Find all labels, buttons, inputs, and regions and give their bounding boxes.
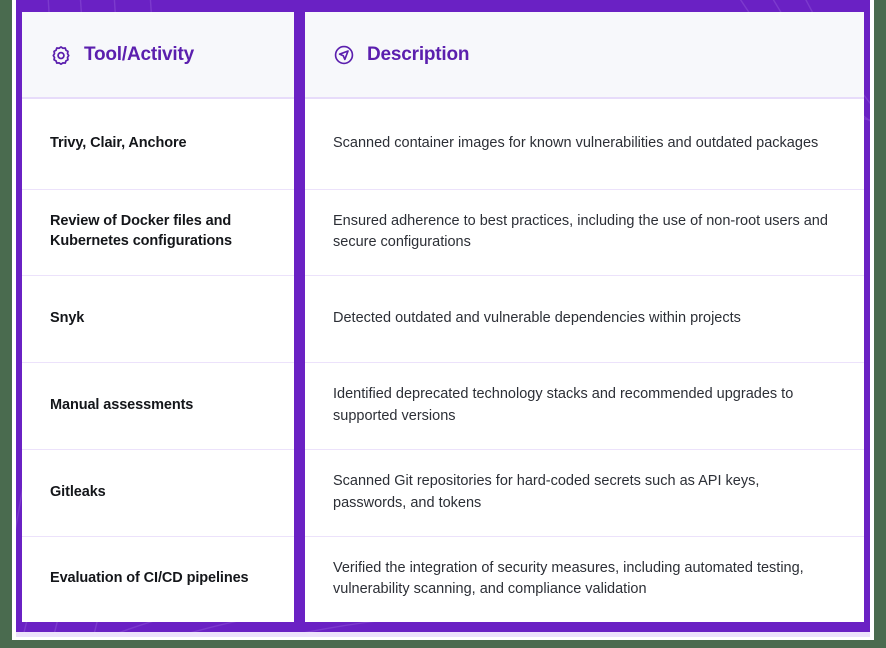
cell-description: Identified deprecated technology stacks … [305,362,864,449]
page-canvas: Tool/Activity Descripti [0,0,886,648]
tool-activity-table: Tool/Activity Descripti [22,12,864,622]
cell-tool: Evaluation of CI/CD pipelines [22,536,294,622]
column-header-description[interactable]: Description [305,12,864,98]
table-header-row: Tool/Activity Descripti [22,12,864,98]
table-body: Trivy, Clair, Anchore Scanned container … [22,98,864,622]
cell-tool: Manual assessments [22,362,294,449]
column-header-label: Tool/Activity [84,44,194,66]
table-row[interactable]: Manual assessments Identified deprecated… [22,362,864,449]
table-row[interactable]: Trivy, Clair, Anchore Scanned container … [22,98,864,189]
cell-description: Scanned Git repositories for hard-coded … [305,449,864,536]
table-row[interactable]: Snyk Detected outdated and vulnerable de… [22,275,864,362]
cell-tool: Snyk [22,275,294,362]
table-row[interactable]: Evaluation of CI/CD pipelines Verified t… [22,536,864,622]
send-icon [333,44,355,66]
bottom-lavender-strip [16,632,870,637]
cell-tool: Review of Docker files and Kubernetes co… [22,189,294,275]
table-grid: Tool/Activity Descripti [22,12,864,622]
cell-tool: Gitleaks [22,449,294,536]
table-row[interactable]: Review of Docker files and Kubernetes co… [22,189,864,275]
cell-description: Detected outdated and vulnerable depende… [305,275,864,362]
table-header: Tool/Activity Descripti [22,12,864,98]
cell-description: Scanned container images for known vulne… [305,98,864,189]
column-separator [294,12,305,622]
column-header-label: Description [367,44,469,66]
table-row[interactable]: Gitleaks Scanned Git repositories for ha… [22,449,864,536]
gear-icon [50,44,72,66]
column-header-tool-activity[interactable]: Tool/Activity [22,12,294,98]
cell-description: Ensured adherence to best practices, inc… [305,189,864,275]
cell-description: Verified the integration of security mea… [305,536,864,622]
cell-tool: Trivy, Clair, Anchore [22,98,294,189]
